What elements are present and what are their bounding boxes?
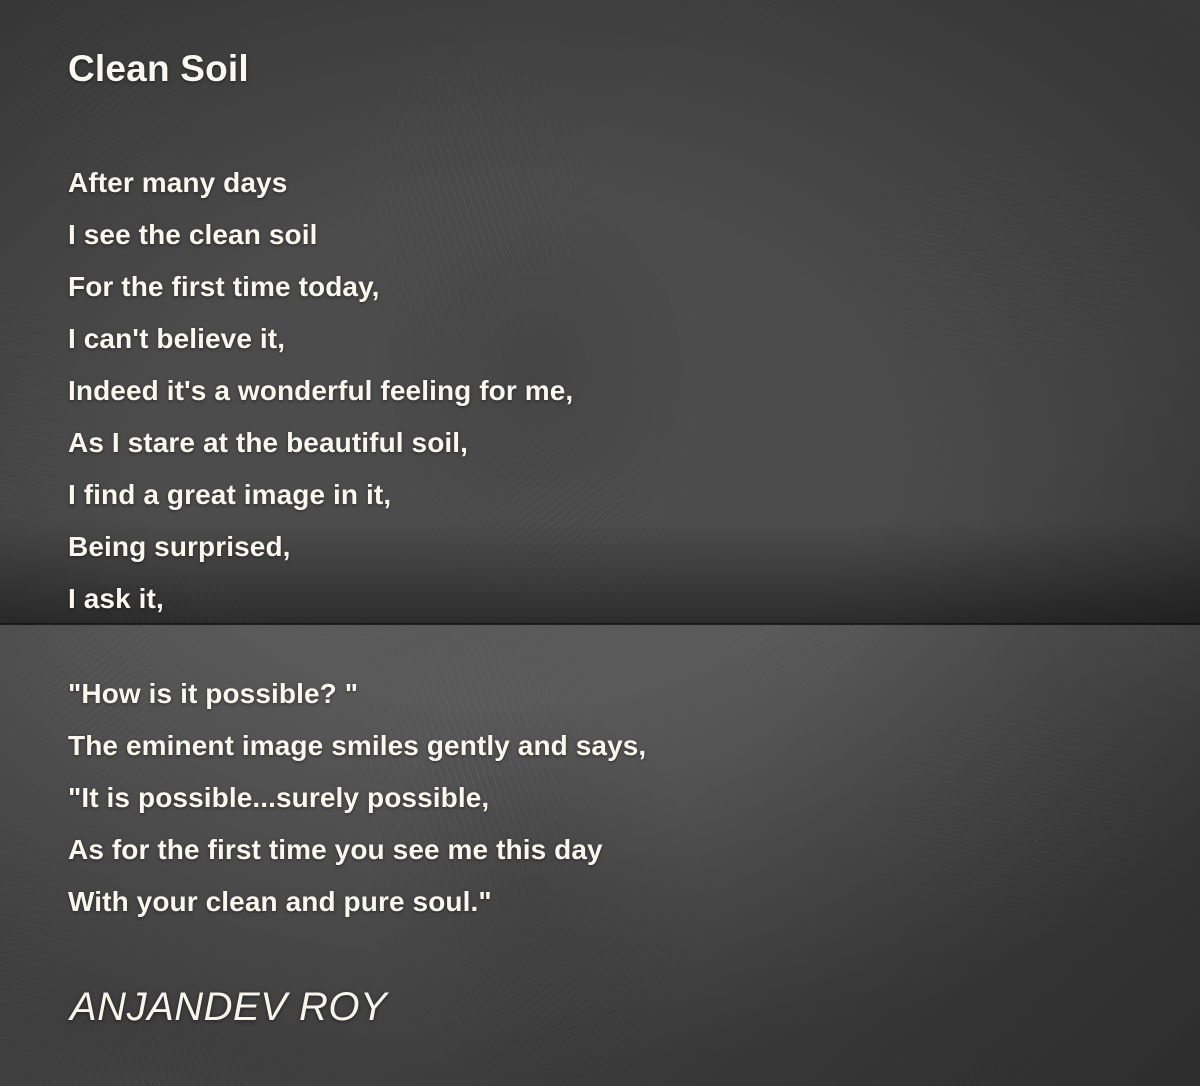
poem-line: After many days: [68, 157, 1158, 209]
poem-line: I see the clean soil: [68, 209, 1158, 261]
poem-stanza-2: "How is it possible? " The eminent image…: [68, 668, 1158, 928]
poem-line: As I stare at the beautiful soil,: [68, 417, 1158, 469]
poem-line: I find a great image in it,: [68, 469, 1158, 521]
poem-line: Being surprised,: [68, 521, 1158, 573]
poem-line: "It is possible...surely possible,: [68, 772, 1158, 824]
poem-line: I can't believe it,: [68, 313, 1158, 365]
poem-title: Clean Soil: [68, 48, 249, 90]
poem-line: The eminent image smiles gently and says…: [68, 720, 1158, 772]
poem-line: Indeed it's a wonderful feeling for me,: [68, 365, 1158, 417]
poem-line: I ask it,: [68, 573, 1158, 625]
poem-author-signature: ANJANDEV ROY: [70, 985, 387, 1030]
poem-card: Clean Soil After many days I see the cle…: [0, 0, 1200, 1086]
poem-text-layer: Clean Soil After many days I see the cle…: [0, 0, 1200, 1086]
poem-line: As for the first time you see me this da…: [68, 824, 1158, 876]
poem-stanza-1: After many days I see the clean soil For…: [68, 157, 1158, 625]
poem-line: "How is it possible? ": [68, 668, 1158, 720]
poem-line: For the first time today,: [68, 261, 1158, 313]
poem-line: With your clean and pure soul.": [68, 876, 1158, 928]
